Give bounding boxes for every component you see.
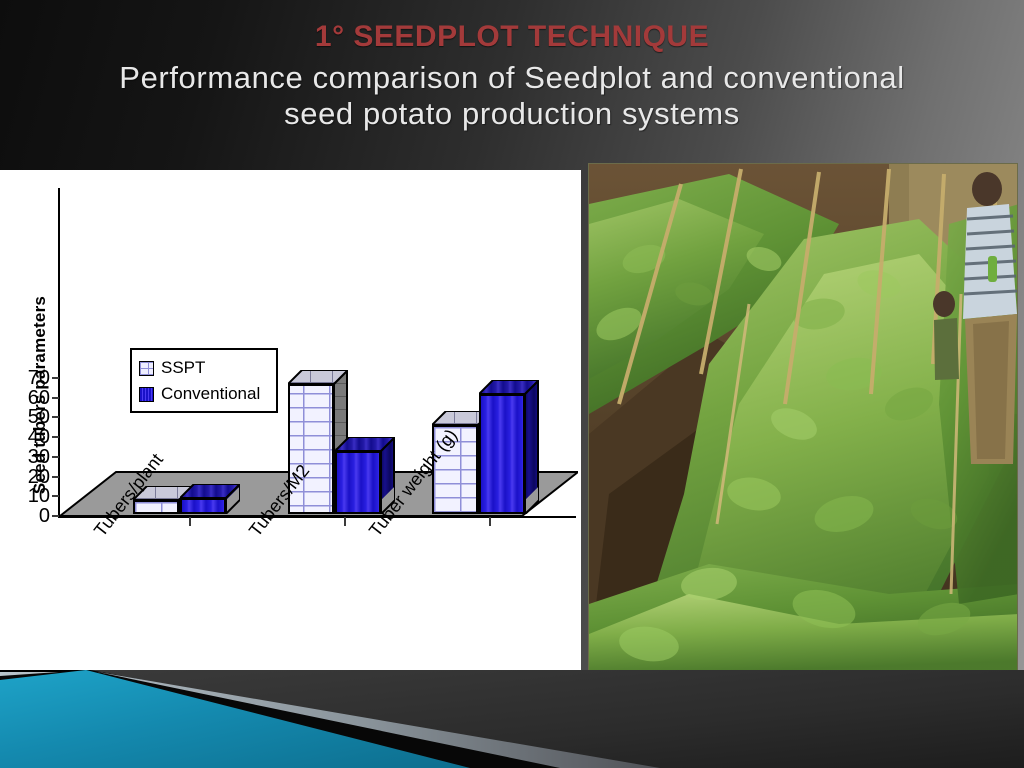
y-tick-label-40: 40 bbox=[10, 427, 50, 447]
slide-canvas: 1° SEEDPLOT TECHNIQUE Performance compar… bbox=[0, 0, 1024, 768]
legend-item-sspt[interactable]: SSPT bbox=[139, 355, 269, 381]
bar-conventional-0[interactable] bbox=[180, 484, 240, 514]
y-tick-label-10: 10 bbox=[10, 486, 50, 506]
y-tick-mark-40 bbox=[52, 436, 59, 438]
y-tick-label-70: 70 bbox=[10, 368, 50, 388]
y-tick-label-20: 20 bbox=[10, 467, 50, 487]
legend-label-sspt: SSPT bbox=[161, 358, 205, 378]
field-photo-image bbox=[589, 164, 1018, 673]
y-tick-mark-50 bbox=[52, 416, 59, 418]
y-tick-label-50: 50 bbox=[10, 407, 50, 427]
title-block: 1° SEEDPLOT TECHNIQUE Performance compar… bbox=[0, 0, 1024, 172]
x-tick-mark-1 bbox=[344, 517, 346, 526]
chart-panel: Seed tubers parameters 010203040506070 T… bbox=[0, 170, 581, 674]
y-tick-mark-60 bbox=[52, 397, 59, 399]
y-tick-mark-70 bbox=[52, 377, 59, 379]
page-subtitle: Performance comparison of Seedplot and c… bbox=[0, 60, 1024, 132]
y-tick-label-0: 0 bbox=[10, 506, 50, 526]
y-tick-mark-20 bbox=[52, 476, 59, 478]
y-tick-mark-30 bbox=[52, 456, 59, 458]
y-axis-line bbox=[58, 188, 60, 516]
chart-legend[interactable]: SSPT Conventional bbox=[130, 348, 278, 413]
page-title: 1° SEEDPLOT TECHNIQUE bbox=[0, 20, 1024, 54]
y-tick-mark-10 bbox=[52, 495, 59, 497]
field-photo bbox=[588, 163, 1018, 673]
y-tick-label-60: 60 bbox=[10, 388, 50, 408]
legend-swatch-sspt-icon bbox=[139, 361, 154, 376]
y-tick-mark-0 bbox=[52, 515, 59, 517]
legend-label-conventional: Conventional bbox=[161, 384, 260, 404]
y-axis-tick-labels: 010203040506070 bbox=[0, 170, 50, 570]
x-tick-mark-2 bbox=[489, 517, 491, 526]
x-tick-mark-0 bbox=[189, 517, 191, 526]
x-axis-line bbox=[58, 516, 576, 518]
legend-item-conventional[interactable]: Conventional bbox=[139, 381, 269, 407]
y-tick-label-30: 30 bbox=[10, 447, 50, 467]
bar-conventional-2[interactable] bbox=[479, 380, 539, 514]
legend-swatch-conventional-icon bbox=[139, 387, 154, 402]
